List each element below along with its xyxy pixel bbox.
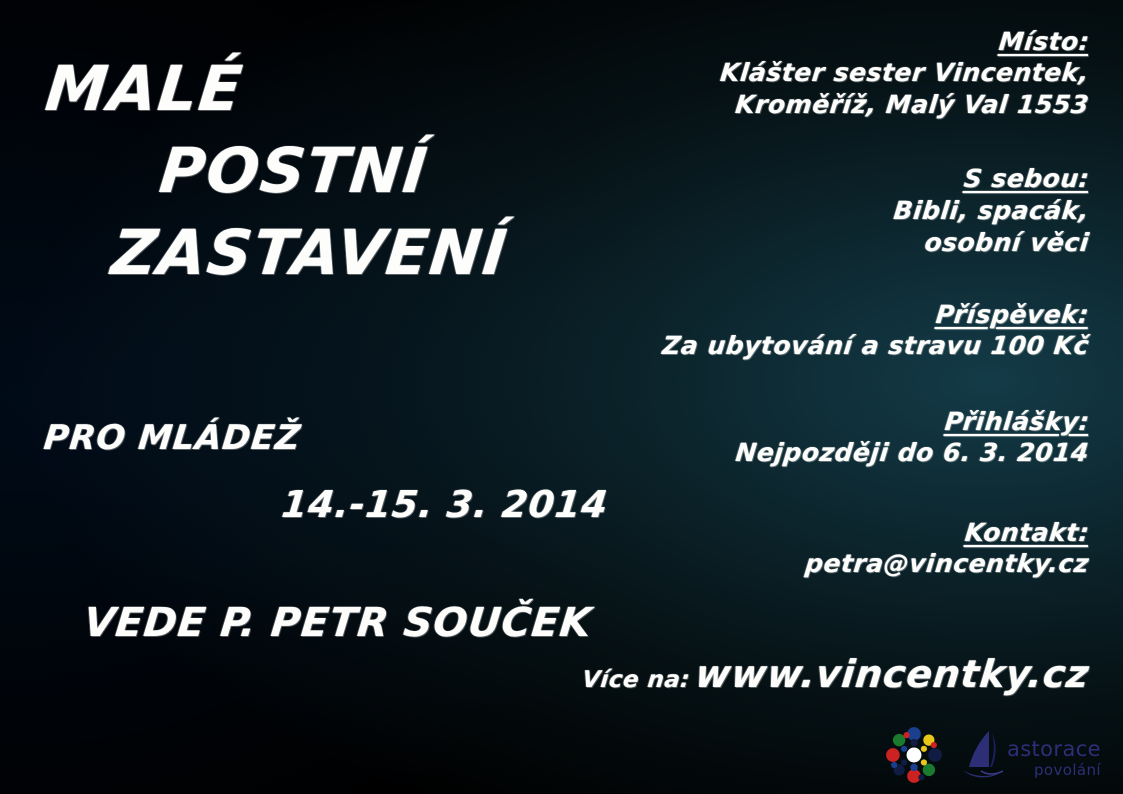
event-leader: VEDE P. PETR SOUČEK	[82, 600, 595, 646]
info-line-bring-2: osobní věci	[657, 227, 1090, 259]
info-group-bring: S sebou: Bibli, spacák, osobní věci	[659, 163, 1089, 258]
more-info-prefix: Více na:	[581, 667, 691, 693]
info-heading-bring: S sebou:	[962, 163, 1091, 194]
audience-label: PRO MLÁDEŽ	[42, 418, 303, 458]
pastorace-sub-text: povolání	[1034, 763, 1101, 778]
info-column: Místo: Klášter sester Vincentek, Kroměří…	[659, 26, 1089, 590]
pastorace-main-text: astorace	[1007, 739, 1101, 760]
pastorace-povolani-logo: astorace povolání	[959, 725, 1101, 785]
info-line-bring-1: Bibli, spacák,	[657, 195, 1090, 227]
info-line-fee-1: Za ubytování a stravu 100 Kč	[657, 330, 1090, 362]
poster-title: MALÉ POSTNÍ ZASTAVENÍ	[0, 48, 620, 293]
more-info-line: Více na: www.vincentky.cz	[580, 652, 1091, 696]
info-line-registration-1: Nejpozději do 6. 3. 2014	[657, 437, 1090, 469]
info-line-place-2: Kroměříž, Malý Val 1553	[657, 89, 1090, 121]
logo-row: astorace povolání	[883, 724, 1101, 786]
contact-email[interactable]: petra@vincentky.cz	[657, 548, 1090, 580]
event-dates: 14.-15. 3. 2014	[280, 483, 611, 526]
website-url[interactable]: www.vincentky.cz	[693, 652, 1091, 696]
colored-dots-logo-icon	[883, 724, 945, 786]
info-heading-place: Místo:	[997, 26, 1091, 57]
pastorace-wordmark: astorace povolání	[1007, 733, 1101, 778]
info-heading-registration: Přihlášky:	[943, 406, 1091, 437]
info-heading-contact: Kontakt:	[963, 517, 1091, 548]
info-group-fee: Příspěvek: Za ubytování a stravu 100 Kč	[659, 299, 1089, 362]
info-group-contact: Kontakt: petra@vincentky.cz	[659, 517, 1089, 580]
sailboat-icon	[959, 725, 1011, 785]
title-line-1: MALÉ	[0, 48, 624, 130]
poster-canvas: MALÉ POSTNÍ ZASTAVENÍ PRO MLÁDEŽ 14.-15.…	[0, 0, 1123, 794]
info-group-place: Místo: Klášter sester Vincentek, Kroměří…	[659, 26, 1089, 121]
info-line-place-1: Klášter sester Vincentek,	[657, 57, 1090, 89]
info-heading-fee: Příspěvek:	[934, 299, 1090, 330]
info-group-registration: Přihlášky: Nejpozději do 6. 3. 2014	[659, 406, 1089, 469]
title-line-3: ZASTAVENÍ	[0, 212, 624, 294]
title-line-2: POSTNÍ	[0, 130, 624, 212]
